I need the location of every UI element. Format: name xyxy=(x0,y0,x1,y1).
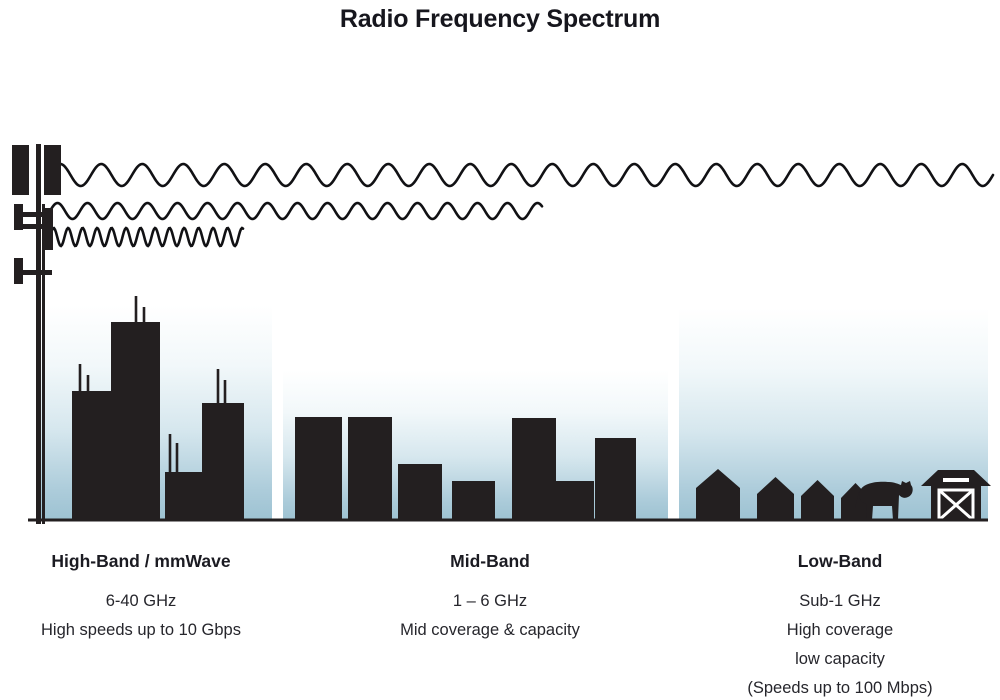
barn-body xyxy=(921,470,991,520)
band-detail-mid-band-2: Mid coverage & capacity xyxy=(400,621,581,639)
building-mid-band-2 xyxy=(348,417,392,520)
low-band-wave xyxy=(50,164,993,186)
band-title-high-band: High-Band / mmWave xyxy=(51,551,230,571)
tower-antenna-panel-6 xyxy=(14,258,23,284)
tower-mast xyxy=(36,144,41,524)
building-high-band-2 xyxy=(111,322,160,520)
band-labels: High-Band / mmWave6-40 GHzHigh speeds up… xyxy=(41,551,933,697)
band-detail-low-band-3: low capacity xyxy=(795,650,886,668)
building-mid-band-4 xyxy=(452,481,495,520)
building-mid-band-5 xyxy=(512,418,556,520)
radio-waves xyxy=(50,164,993,246)
tower-antenna-panel-2 xyxy=(44,145,61,195)
band-detail-low-band-2: High coverage xyxy=(787,621,893,639)
tower-crossbar-3 xyxy=(18,270,52,275)
spectrum-diagram: High-Band / mmWave6-40 GHzHigh speeds up… xyxy=(0,0,1000,700)
band-detail-mid-band-1: 1 – 6 GHz xyxy=(453,592,527,610)
building-mid-band-7 xyxy=(595,438,636,520)
tower-antenna-panel-5 xyxy=(45,228,53,250)
building-mid-band-6 xyxy=(556,481,594,520)
band-label-high-band: High-Band / mmWave6-40 GHzHigh speeds up… xyxy=(41,551,241,639)
building-high-band-3 xyxy=(165,472,202,520)
band-detail-high-band-2: High speeds up to 10 Gbps xyxy=(41,621,241,639)
band-title-mid-band: Mid-Band xyxy=(450,551,530,571)
band-detail-high-band-1: 6-40 GHz xyxy=(106,592,177,610)
building-high-band-1 xyxy=(72,391,111,520)
tower-antenna-panel-1 xyxy=(12,145,29,195)
barn-hayloft-window xyxy=(943,478,969,482)
building-mid-band-3 xyxy=(398,464,442,520)
building-mid-band-1 xyxy=(295,417,342,520)
building-high-band-4 xyxy=(202,403,244,520)
band-detail-low-band-1: Sub-1 GHz xyxy=(799,592,881,610)
high-band-wave xyxy=(50,228,243,246)
tower-antenna-panel-3 xyxy=(14,204,23,230)
tower-antenna-panel-4 xyxy=(45,208,53,230)
band-label-low-band: Low-BandSub-1 GHzHigh coveragelow capaci… xyxy=(747,551,932,697)
tower-mast-brace xyxy=(42,204,45,524)
band-label-mid-band: Mid-Band1 – 6 GHzMid coverage & capacity xyxy=(400,551,581,639)
band-detail-low-band-4: (Speeds up to 100 Mbps) xyxy=(747,679,932,697)
band-title-low-band: Low-Band xyxy=(798,551,883,571)
barn xyxy=(921,470,991,520)
mid-band-wave xyxy=(50,203,542,219)
